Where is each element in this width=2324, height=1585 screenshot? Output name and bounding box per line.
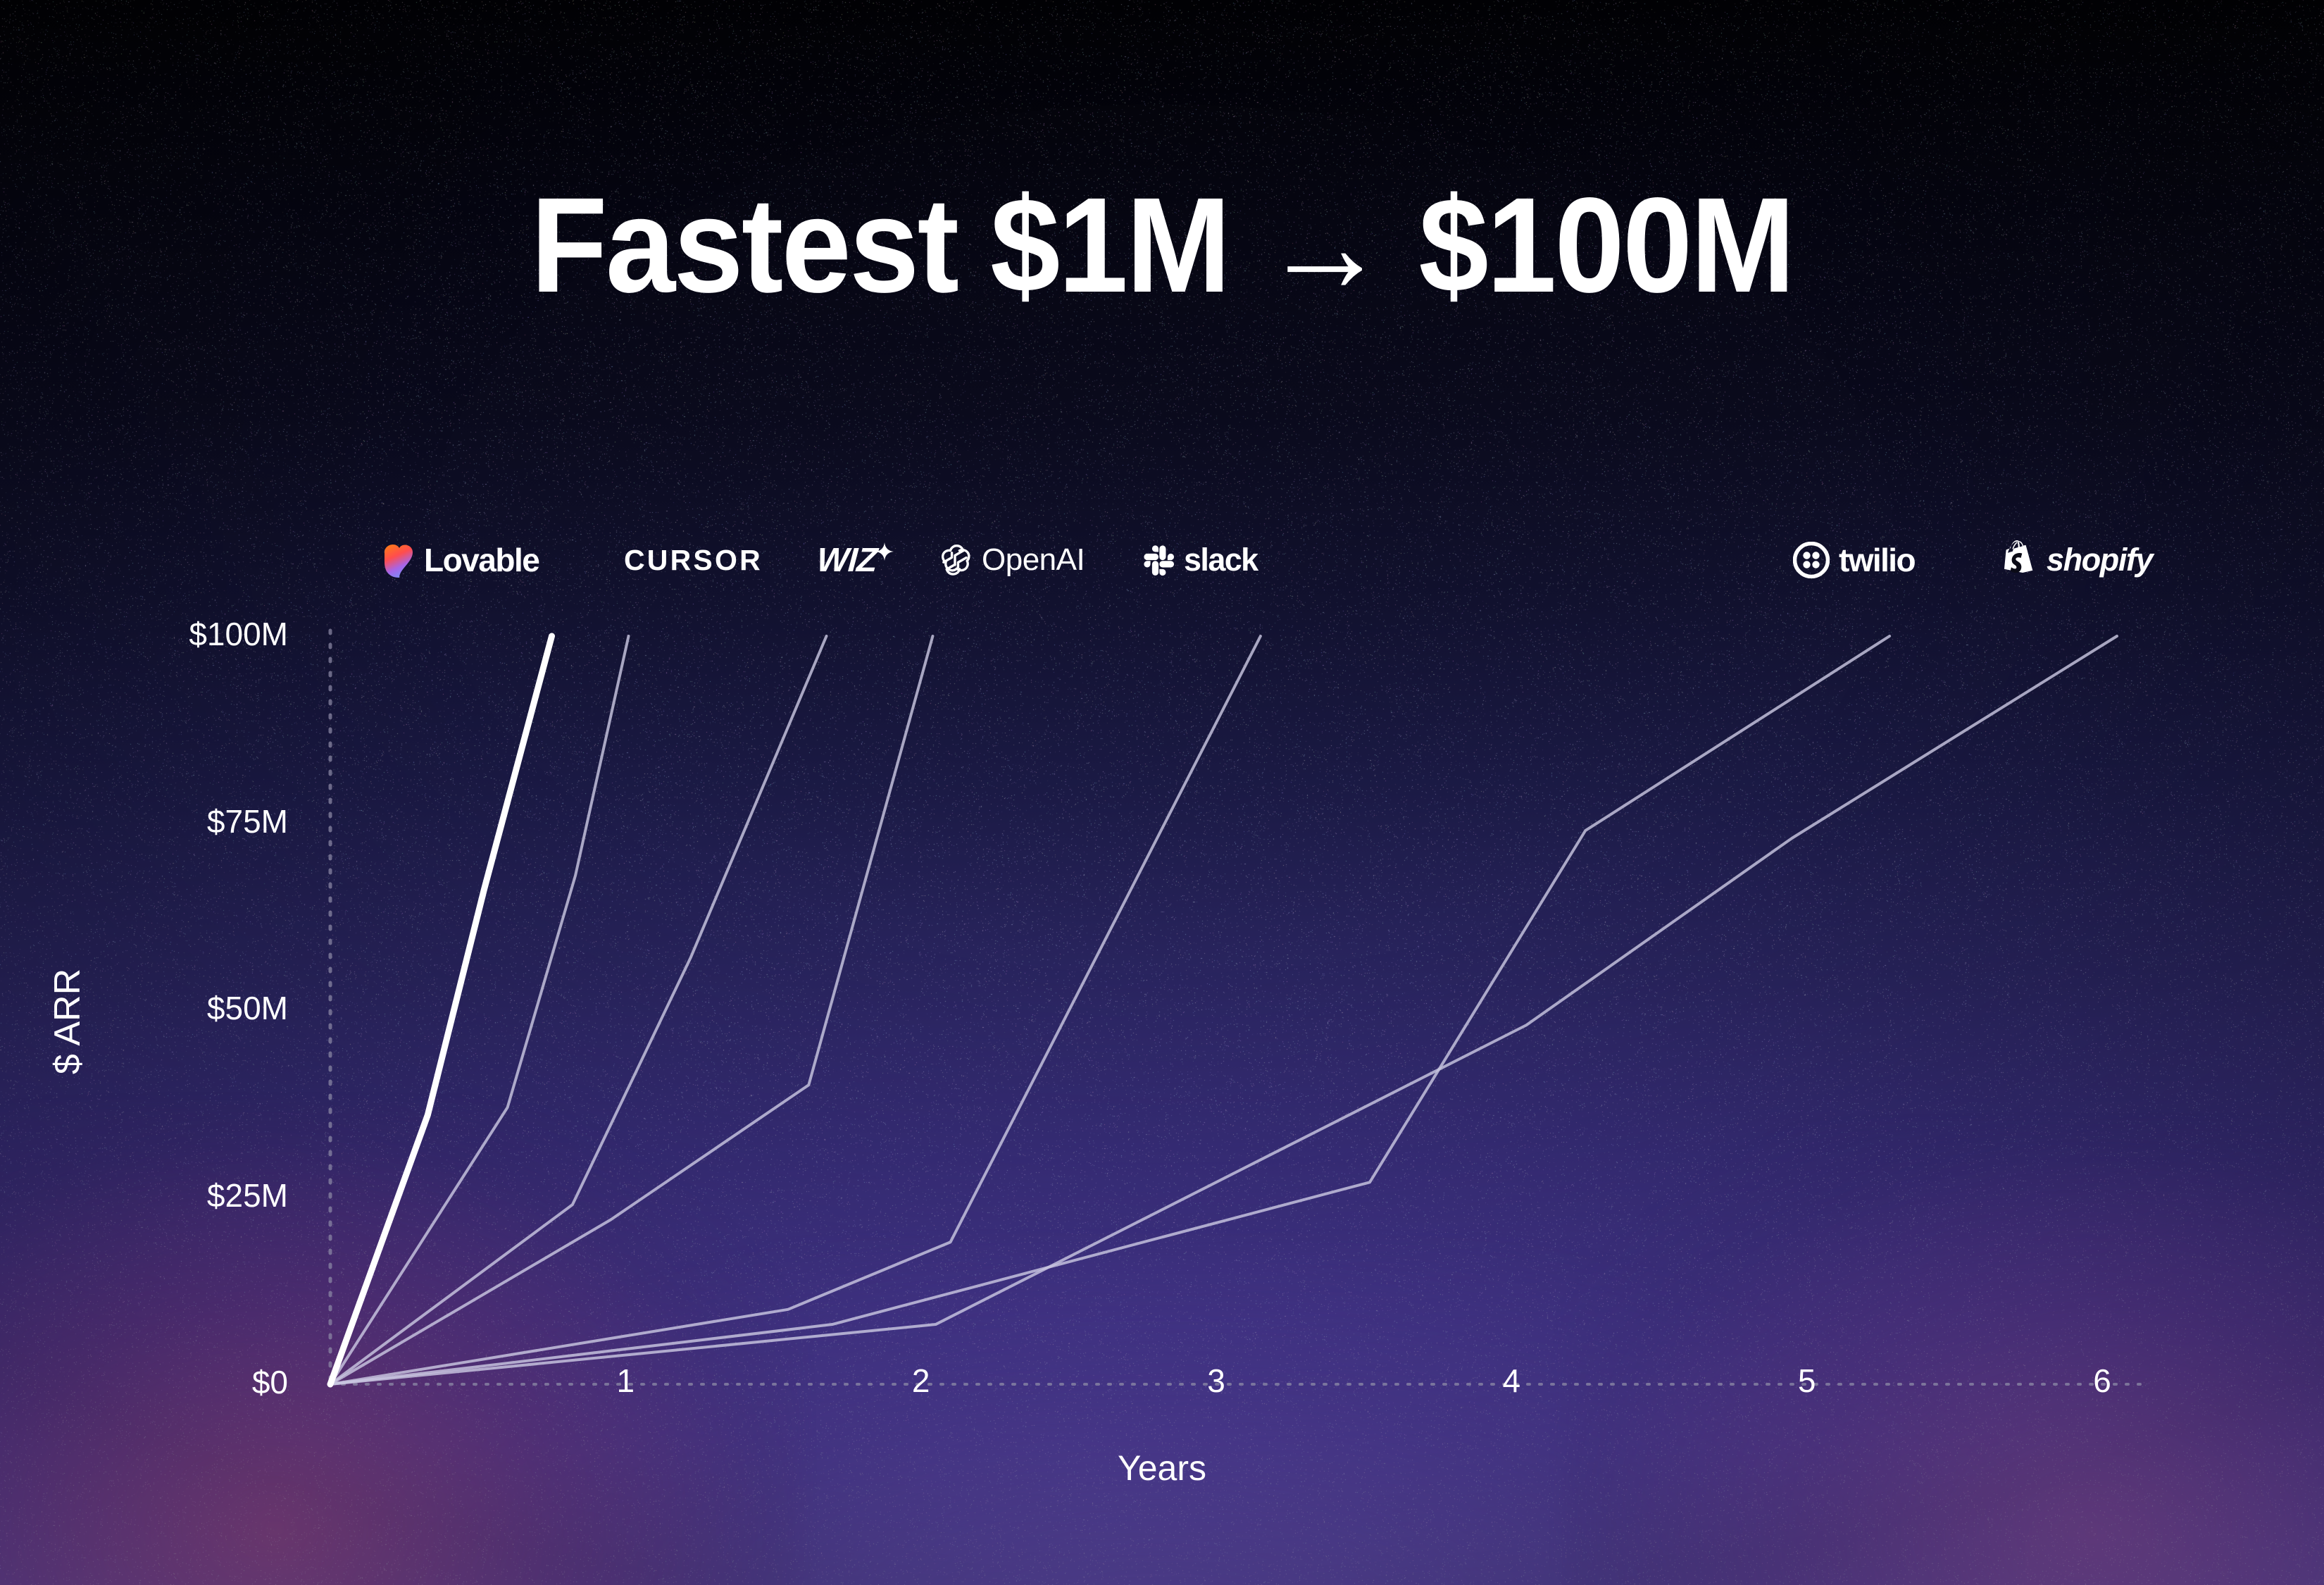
line-lovable [330, 636, 552, 1384]
plot-area: $0$25M$50M$75M$100M123456 $ ARR Years [0, 0, 2324, 1585]
x-tick-label: 1 [583, 1362, 668, 1400]
series-lines [0, 0, 2324, 1585]
y-tick-label: $50M [207, 989, 288, 1027]
x-tick-label: 5 [1765, 1362, 1849, 1400]
line-slack [330, 636, 1261, 1384]
chart-canvas: Fastest $1M → $100M Lovable [0, 0, 2324, 1585]
line-openai [330, 636, 932, 1384]
x-tick-label: 6 [2060, 1362, 2144, 1400]
x-tick-label: 2 [879, 1362, 963, 1400]
y-tick-label: $75M [207, 802, 288, 840]
line-shopify [330, 636, 2117, 1384]
y-tick-label: $0 [252, 1363, 288, 1401]
y-tick-label: $100M [189, 615, 288, 653]
line-twilio [330, 636, 1889, 1384]
y-tick-label: $25M [207, 1176, 288, 1214]
x-tick-label: 3 [1174, 1362, 1258, 1400]
x-axis-title: Years [0, 1448, 2324, 1488]
x-tick-label: 4 [1469, 1362, 1554, 1400]
line-wiz [330, 636, 826, 1384]
y-axis-title: $ ARR [46, 916, 89, 1127]
